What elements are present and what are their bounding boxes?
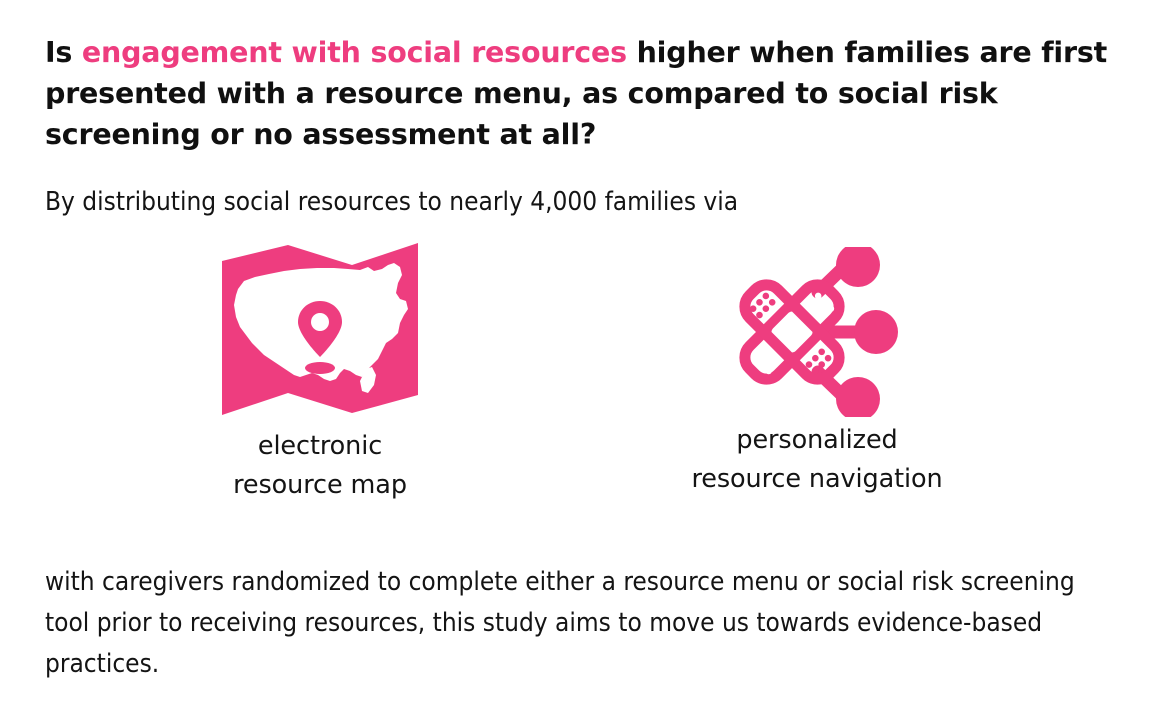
icon-block-electronic-resource-map: electronic resource map: [165, 243, 475, 505]
node-middle: [854, 310, 898, 354]
map-icon-art: [165, 243, 475, 421]
caption-line-1: electronic: [165, 427, 475, 466]
crossed-bandages-network-nodes-icon: [730, 247, 905, 417]
caption-line-2: resource map: [165, 466, 475, 505]
slide-canvas: Is engagement with social resources high…: [0, 0, 1152, 703]
headline-emphasis: higher: [637, 36, 740, 69]
icon-row: electronic resource map: [45, 243, 1055, 533]
node-bottom: [836, 377, 880, 417]
headline-highlight: engagement with social resources: [82, 36, 627, 69]
navigation-icon-art: [617, 243, 1017, 421]
headline-part-1: Is: [45, 36, 82, 69]
icon-caption-electronic-resource-map: electronic resource map: [165, 427, 475, 505]
icon-block-personalized-resource-navigation: personalized resource navigation: [617, 243, 1017, 499]
lead-paragraph: By distributing social resources to near…: [45, 185, 1045, 219]
node-top: [836, 247, 880, 287]
us-map-with-location-pin-icon: [222, 243, 418, 415]
closing-paragraph: with caregivers randomized to complete e…: [45, 562, 1105, 685]
caption-line-2: resource navigation: [617, 460, 1017, 499]
icon-caption-personalized-resource-navigation: personalized resource navigation: [617, 421, 1017, 499]
headline-part-2: [627, 36, 637, 69]
page-title: Is engagement with social resources high…: [45, 32, 1120, 155]
caption-line-1: personalized: [617, 421, 1017, 460]
